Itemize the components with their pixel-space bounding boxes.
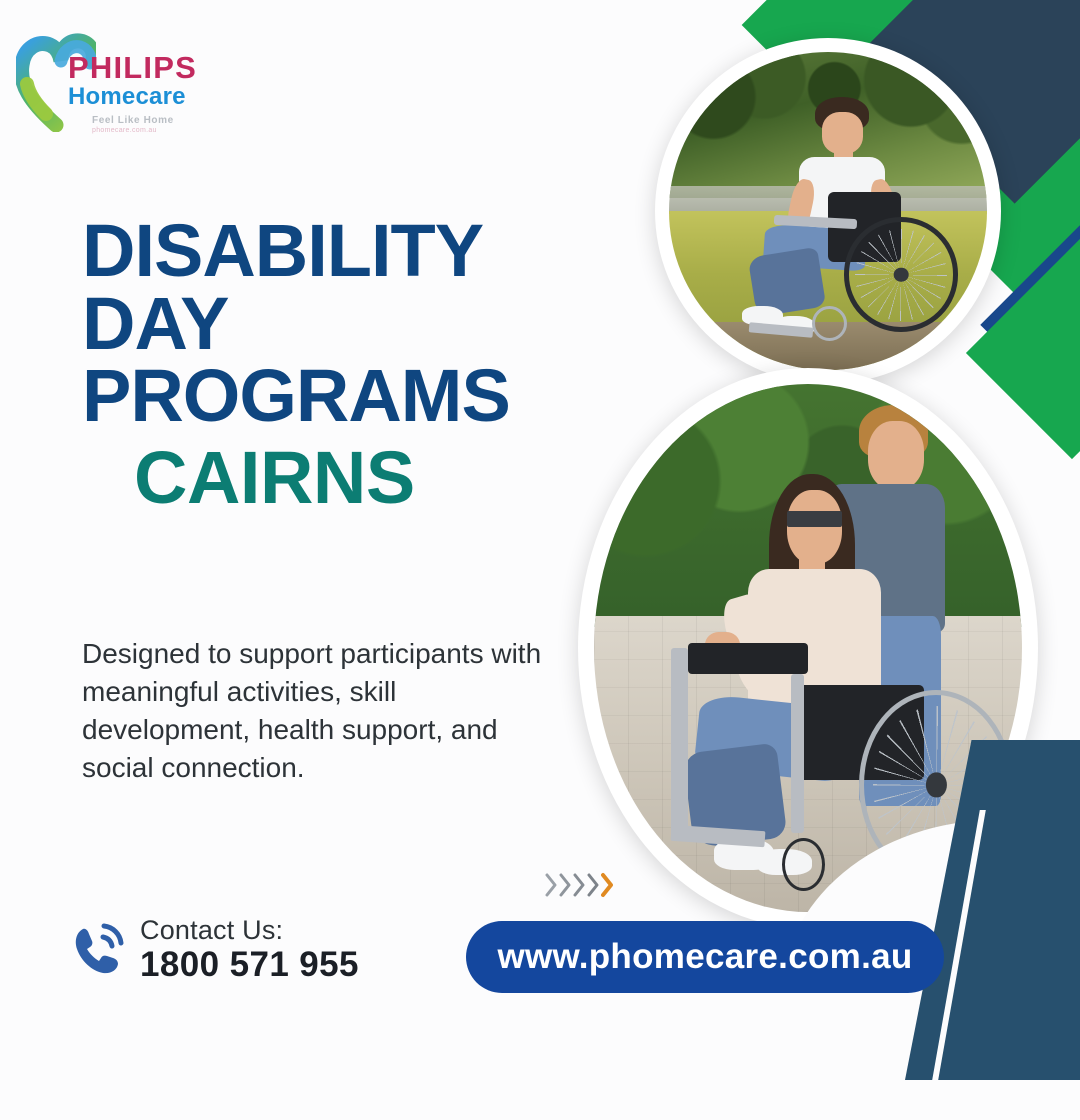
phone-call-icon[interactable] — [70, 920, 126, 980]
chevron-right-icon-accent — [601, 872, 614, 898]
brand-logo[interactable]: PHILIPS Homecare Feel Like Home phomecar… — [16, 26, 256, 146]
headline-line-3: PROGRAMS — [82, 360, 602, 433]
headline-line-2: DAY — [82, 288, 602, 361]
logo-url: phomecare.com.au — [92, 127, 197, 134]
contact-phone-number[interactable]: 1800 571 955 — [140, 946, 359, 985]
chevron-right-icon — [587, 872, 600, 898]
chevron-right-icon — [545, 872, 558, 898]
contact-label: Contact Us: — [140, 915, 359, 946]
description-text: Designed to support participants with me… — [82, 635, 552, 787]
page-title: DISABILITY DAY PROGRAMS CAIRNS — [82, 215, 602, 516]
chevron-arrow-accent — [545, 872, 614, 898]
website-button[interactable]: www.phomecare.com.au — [466, 921, 944, 993]
chevron-right-icon — [573, 872, 586, 898]
headline-line-1: DISABILITY — [82, 215, 602, 288]
logo-name-secondary: Homecare — [68, 83, 197, 111]
chevron-right-icon — [559, 872, 572, 898]
logo-name-primary: PHILIPS — [68, 52, 197, 83]
photo-man-in-wheelchair-park — [655, 38, 1001, 384]
headline-city: CAIRNS — [134, 439, 602, 517]
logo-tagline: Feel Like Home — [92, 115, 197, 126]
contact-block: Contact Us: 1800 571 955 — [70, 915, 359, 985]
